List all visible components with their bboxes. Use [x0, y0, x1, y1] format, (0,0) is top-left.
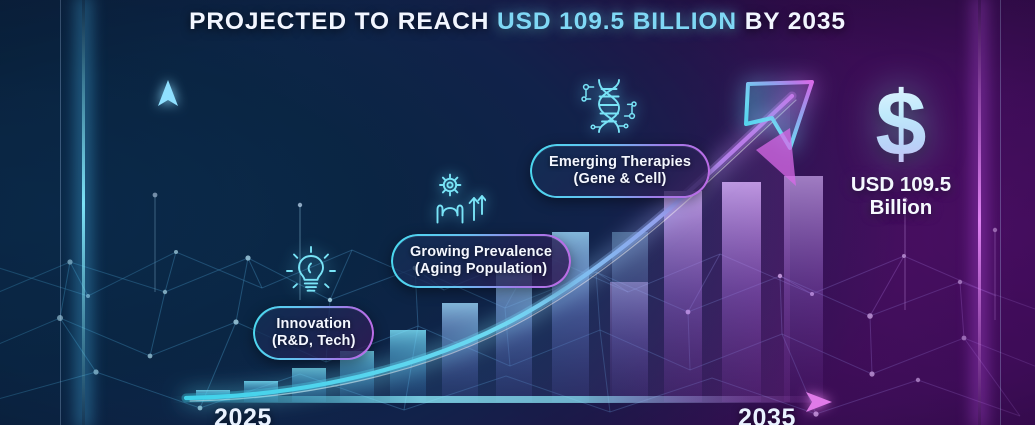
callout-prevalence-line2: (Aging Population) [410, 261, 552, 278]
dna-helix-icon [575, 72, 643, 138]
title-highlight: USD 109.5 BILLION [497, 8, 737, 35]
projected-value-line2: Billion [806, 196, 996, 219]
value-axis [158, 80, 178, 402]
axis-label-end-year: 2035 [738, 404, 796, 425]
callout-therapies-line1: Emerging Therapies [549, 154, 691, 171]
diagonal-color-wash [0, 0, 1035, 425]
callout-innovation-line1: Innovation [272, 316, 356, 333]
callout-prevalence-line1: Growing Prevalence [410, 244, 552, 261]
projected-value-block: $ USD 109.5 Billion [806, 82, 996, 219]
infographic-canvas: PROJECTED TO REACH USD 109.5 BILLION BY … [0, 0, 1035, 425]
page-title: PROJECTED TO REACH USD 109.5 BILLION BY … [189, 8, 846, 36]
projected-value-text: USD 109.5 Billion [806, 173, 996, 220]
growth-arrow-head-secondary [756, 128, 796, 186]
vignette-overlay [0, 0, 1035, 425]
bar-series [196, 176, 823, 402]
growth-chart [0, 0, 1035, 425]
right-edge-line [1000, 0, 1001, 425]
callout-innovation-line2: (R&D, Tech) [272, 333, 356, 350]
floor-glow [170, 396, 830, 403]
lightbulb-icon [283, 243, 339, 301]
callout-growing-prevalence[interactable]: Growing Prevalence (Aging Population) [392, 235, 570, 288]
dollar-sign-icon: $ [806, 82, 996, 167]
cyan-light-streak [82, 0, 85, 425]
callout-innovation[interactable]: Innovation (R&D, Tech) [254, 307, 374, 360]
title-suffix: BY 2035 [737, 8, 846, 35]
axis-label-start-year: 2025 [214, 404, 272, 425]
magenta-light-streak [978, 0, 981, 425]
title-bar: PROJECTED TO REACH USD 109.5 BILLION BY … [0, 0, 1035, 44]
gear-in-hands-icon [424, 170, 486, 230]
callout-therapies-line2: (Gene & Cell) [549, 171, 691, 188]
left-edge-line [60, 0, 61, 425]
growth-arrow-head [746, 82, 812, 148]
title-prefix: PROJECTED TO REACH [189, 8, 497, 35]
projected-value-line1: USD 109.5 [806, 173, 996, 196]
network-particles-background [0, 0, 1035, 425]
callout-emerging-therapies[interactable]: Emerging Therapies (Gene & Cell) [531, 145, 709, 198]
